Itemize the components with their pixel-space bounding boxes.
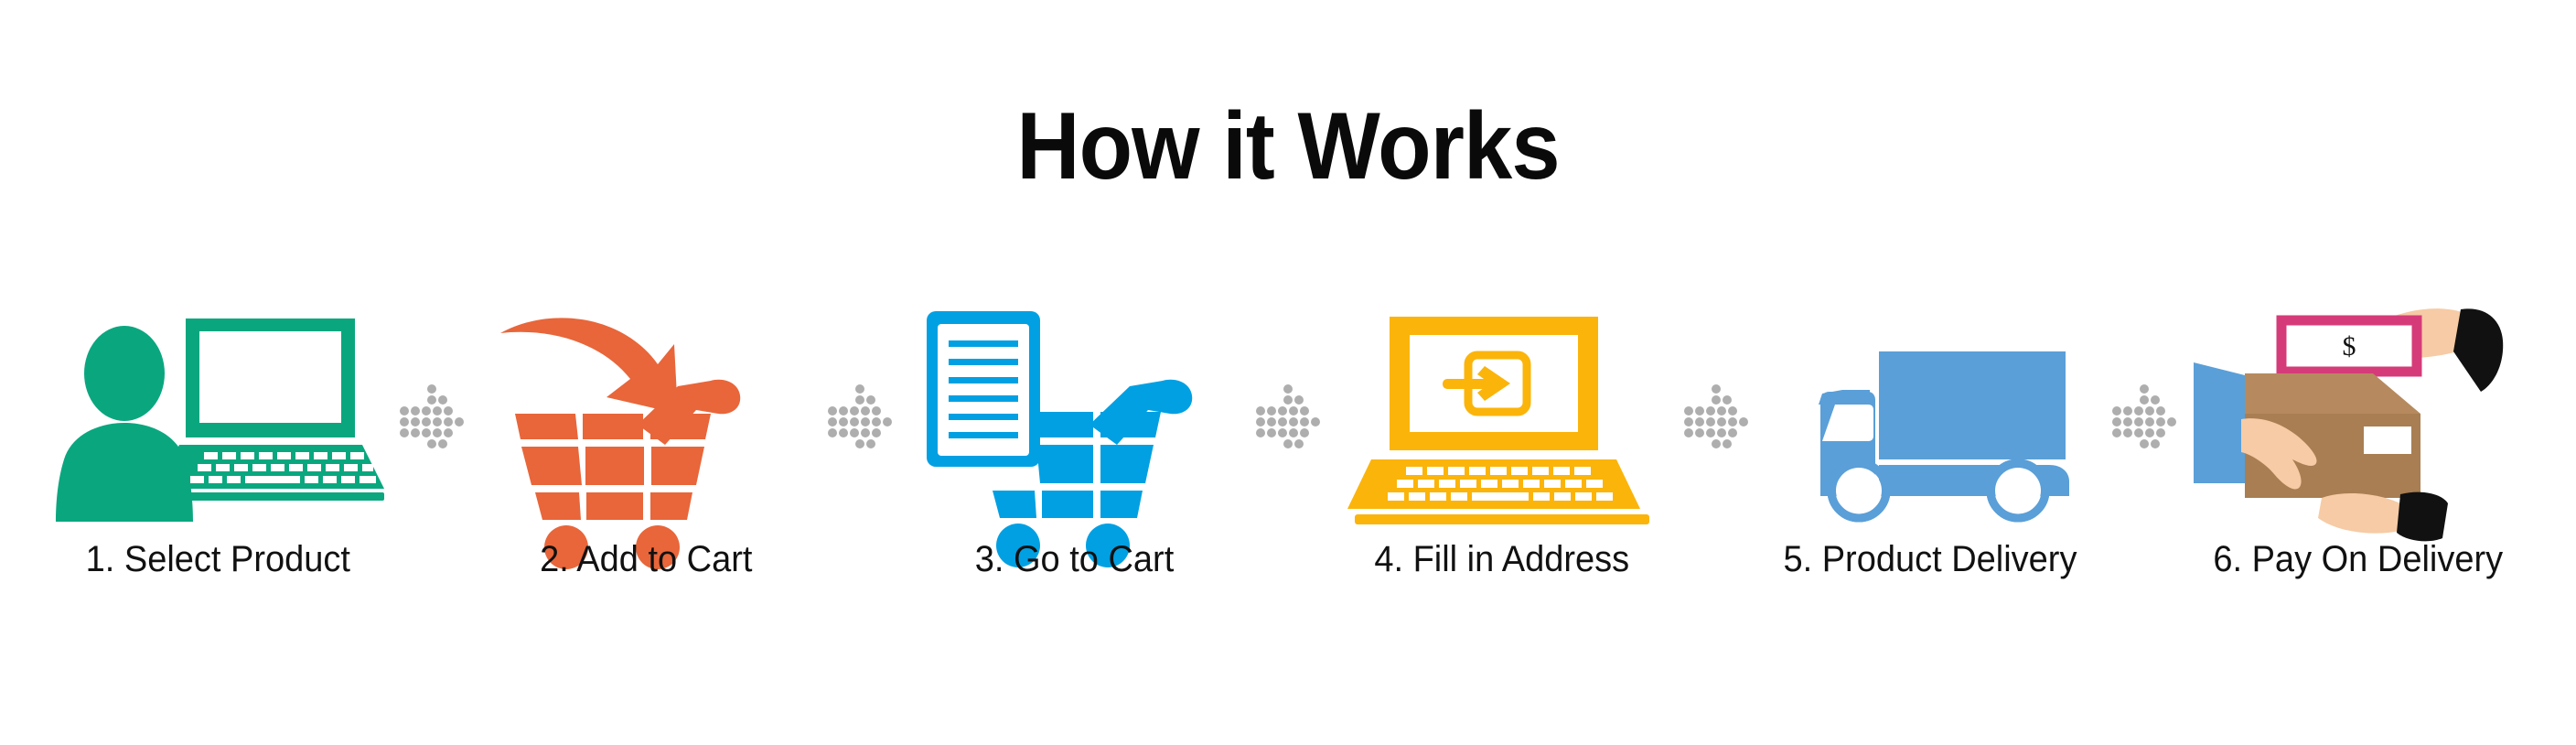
sleeve-black-top	[2453, 308, 2503, 392]
sleeve-black-bottom	[2397, 492, 2448, 542]
page-title: How it Works	[103, 99, 2474, 194]
dotted-arrow-right-icon	[1683, 383, 1749, 449]
dotted-arrow-right-icon	[2111, 383, 2177, 449]
cash-on-delivery-icon: $	[2194, 302, 2523, 531]
step-5-icon-box	[1756, 302, 2104, 531]
box-label	[2364, 426, 2411, 454]
step-5-label: 5. Product Delivery	[1783, 540, 2077, 578]
separator-5	[2105, 302, 2184, 531]
step-4-icon-box	[1328, 302, 1676, 531]
step-6-pay-on-delivery[interactable]: $ 6. Pay On Delivery	[2184, 302, 2532, 632]
step-1-select-product[interactable]: 1. Select Product	[44, 302, 392, 632]
step-6-icon-box: $	[2184, 302, 2532, 531]
step-1-label: 1. Select Product	[85, 540, 349, 578]
step-4-fill-in-address[interactable]: 4. Fill in Address	[1328, 302, 1676, 632]
separator-2	[821, 302, 899, 531]
hand-receiving	[2318, 493, 2404, 534]
step-2-add-to-cart[interactable]: 2. Add to Cart	[472, 302, 820, 632]
step-1-icon-box	[44, 302, 392, 531]
dotted-arrow-right-icon	[1255, 383, 1321, 449]
step-2-icon-box	[472, 302, 820, 531]
separator-1	[392, 302, 471, 531]
separator-3	[1249, 302, 1327, 531]
steps-row: 1. Select Product	[44, 302, 2532, 632]
step-3-icon-box	[900, 302, 1248, 531]
step-2-label: 2. Add to Cart	[540, 540, 752, 578]
cart-with-arrow-icon	[495, 302, 797, 531]
dollar-symbol: $	[2343, 331, 2356, 362]
box-lid	[2245, 373, 2420, 414]
dotted-arrow-right-icon	[399, 383, 465, 449]
step-6-label: 6. Pay On Delivery	[2214, 540, 2504, 578]
dotted-arrow-right-icon	[827, 383, 893, 449]
step-3-label: 3. Go to Cart	[974, 540, 1174, 578]
person-with-laptop-icon	[53, 302, 382, 531]
step-4-label: 4. Fill in Address	[1375, 540, 1630, 578]
delivery-truck-icon	[1775, 302, 2086, 531]
infographic-page: How it Works	[0, 0, 2576, 745]
document-with-cart-icon	[923, 302, 1225, 531]
laptop-login-icon	[1351, 302, 1653, 531]
separator-4	[1677, 302, 1755, 531]
step-5-product-delivery[interactable]: 5. Product Delivery	[1756, 302, 2104, 632]
step-3-go-to-cart[interactable]: 3. Go to Cart	[900, 302, 1248, 632]
